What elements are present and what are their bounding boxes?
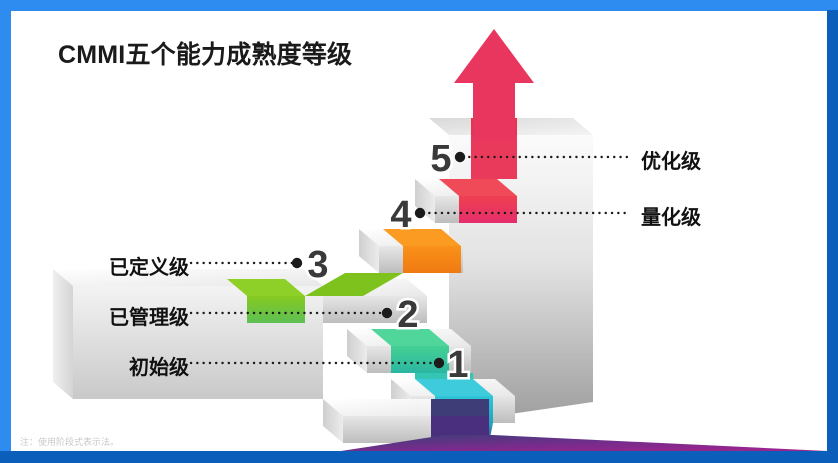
step-label-4: 量化级 [641, 201, 701, 230]
step-label-3: 已定义级 [79, 251, 189, 280]
step-number-5: 5 [430, 138, 451, 180]
leader-dot-3 [292, 258, 302, 268]
step-label-2: 已管理级 [79, 301, 189, 330]
footnote: 注：使用阶段式表示法。 [20, 435, 119, 448]
frame-border-bottom [0, 451, 838, 463]
step-label-1: 初始级 [99, 351, 189, 380]
step-label-5: 优化级 [641, 145, 701, 174]
frame-border-left [0, 0, 11, 452]
slide-content-area: CMMI五个能力成熟度等级 [11, 11, 827, 451]
leader-dot-2 [382, 308, 392, 318]
staircase-diagram: 1 2 3 4 5 [11, 11, 827, 451]
leader-dot-4 [415, 208, 425, 218]
frame-border-top [0, 0, 838, 11]
slide-canvas: CMMI五个能力成熟度等级 [0, 0, 838, 463]
step-number-1: 1 [447, 344, 468, 386]
leader-dot-5 [455, 152, 465, 162]
step-number-3: 3 [307, 244, 328, 286]
step-number-4: 4 [390, 194, 411, 236]
step-number-2: 2 [397, 294, 418, 336]
frame-border-right [827, 10, 838, 463]
leader-dot-1 [434, 358, 444, 368]
